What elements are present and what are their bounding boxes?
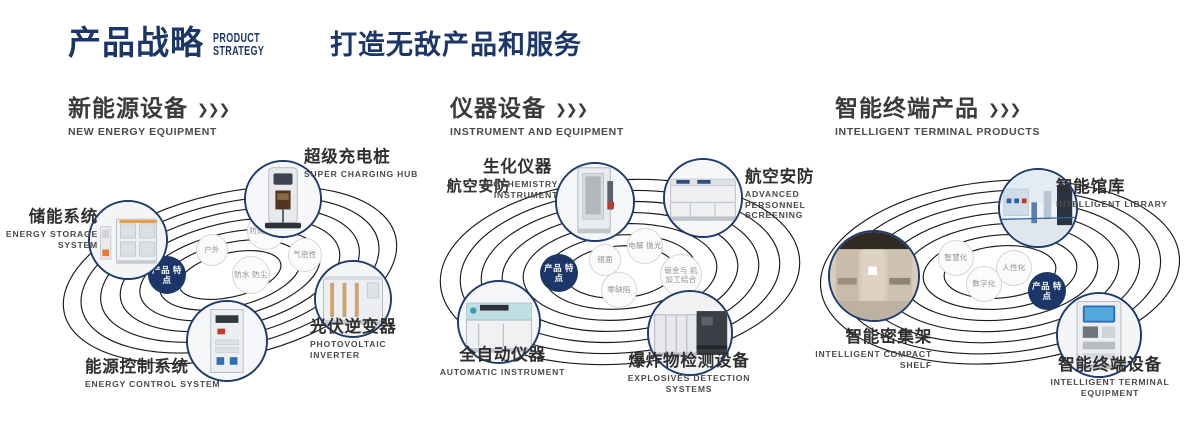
chevron-right-icon: ❯❯❯ (988, 102, 1019, 116)
section-title-cn-2: 智能终端产品 ❯❯❯ (835, 96, 1040, 121)
product-label-charging-hub: 超级充电桩 SUPER CHARGING HUB (304, 148, 418, 180)
feature-bubble-zero-defect: 零缺陷 (601, 272, 637, 308)
page-title-en: PRODUCT STRATEGY (213, 32, 264, 57)
feature-bubble-outdoor: 户外 (196, 234, 228, 266)
product-photo-energy-storage (88, 200, 168, 280)
battery-cabinet-photo (90, 202, 166, 278)
section-heading-instrument: 仪器设备 ❯❯❯ INSTRUMENT AND EQUIPMENT (450, 96, 624, 138)
cluster-intelligent-terminal-products: 智慧化 数字化 人性化 产品 特点 (810, 150, 1200, 410)
cluster-instrument-and-equipment: 产品 特点 镜面 电解 抛光 钣金与 机加工结合 零缺陷 (425, 150, 815, 410)
section-title-cn-0: 新能源设备 ❯❯❯ (68, 96, 228, 121)
product-label-terminal-equipment: 智能终端设备 INTELLIGENT TERMINAL EQUIPMENT (1020, 356, 1200, 398)
chevron-right-icon: ❯❯❯ (555, 102, 586, 116)
product-photo-personnel-screening (663, 158, 743, 238)
section-title-cn-1: 仪器设备 ❯❯❯ (450, 96, 624, 121)
product-photo-biochemistry-instrument (555, 162, 635, 242)
product-label-biochemistry-instrument: 生化仪器 BIOCHEMISTRY INSTRUMENT (483, 158, 558, 200)
section-heading-new-energy: 新能源设备 ❯❯❯ NEW ENERGY EQUIPMENT (68, 96, 228, 138)
biochemistry-instrument-photo (557, 164, 633, 240)
product-label-compact-shelf: 智能密集架 INTELLIGENT COMPACT SHELF (742, 328, 932, 370)
feature-bubble-waterproof: 防水 防尘 (232, 256, 270, 294)
screening-machine-photo (665, 160, 741, 236)
product-label-intelligent-library: 智能馆库 INTELLIGENT LIBRARY (1056, 178, 1168, 210)
page-subtitle: 打造无敌产品和服务 (330, 31, 582, 61)
feature-badge: 产品 特点 (540, 254, 578, 292)
product-label-pv-inverter: 光伏逆变器 PHOTOVOLTAIC INVERTER (310, 318, 420, 360)
feature-bubble-smart: 智慧化 (938, 240, 974, 276)
product-label-energy-storage: 储能系统 ENERGY STORAGE SYSTEM (0, 208, 98, 250)
section-title-en-1: INSTRUMENT AND EQUIPMENT (450, 126, 624, 138)
section-title-en-2: INTELLIGENT TERMINAL PRODUCTS (835, 126, 1040, 138)
compact-shelf-photo (830, 232, 918, 320)
section-title-en-0: NEW ENERGY EQUIPMENT (68, 126, 228, 138)
product-label-energy-control: 能源控制系统 ENERGY CONTROL SYSTEM (85, 358, 220, 390)
product-photo-compact-shelf (828, 230, 920, 322)
product-label-personnel-screening: 航空安防 ADVANCED PERSONNEL SCREENING (745, 168, 815, 221)
section-heading-intelligent: 智能终端产品 ❯❯❯ INTELLIGENT TERMINAL PRODUCTS (835, 96, 1040, 138)
page-title-cn: 产品战略 (68, 26, 204, 59)
product-strategy-infographic: 产品战略 PRODUCT STRATEGY 打造无敌产品和服务 新能源设备 ❯❯… (0, 0, 1200, 422)
cluster-new-energy-equipment: 产品 特点 户外 防腐 防锈 防水 防尘 气密性 (40, 150, 420, 410)
page-header: 产品战略 PRODUCT STRATEGY (68, 26, 284, 59)
chevron-right-icon: ❯❯❯ (197, 102, 228, 116)
feature-bubble-humanized: 人性化 (996, 250, 1032, 286)
product-label-automatic-instrument: 全自动仪器 AUTOMATIC INSTRUMENT (430, 346, 575, 378)
